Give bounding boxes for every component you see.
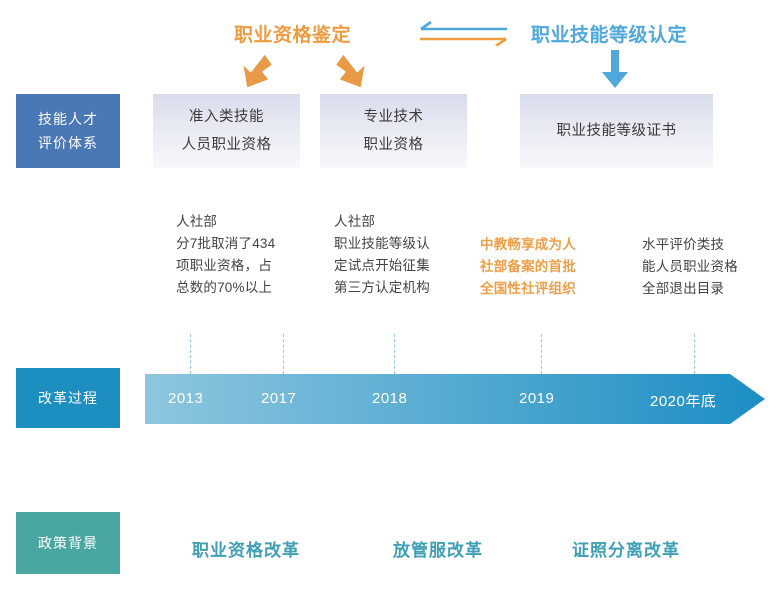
milestone-note-2020-line3: 全部退出目录 <box>642 278 738 300</box>
policy-item-license-separation-reform: 证照分离改革 <box>572 536 680 561</box>
arrow-right-icon <box>420 39 506 46</box>
milestone-note-2019-line3: 全国性社评组织 <box>480 278 576 300</box>
row-label-policy-background: 政策背景 <box>16 512 120 574</box>
milestone-note-2013-line3: 项职业资格，占 <box>176 255 275 277</box>
milestone-note-2019-line2: 社部备案的首批 <box>480 256 576 278</box>
connector-line-2017 <box>283 334 284 374</box>
year-label-2019: 2019 <box>519 390 554 407</box>
milestone-note-2018-line1: 人社部 <box>334 211 430 233</box>
arrow-down-icon <box>600 50 630 90</box>
row-label-reform-process-text: 改革过程 <box>38 386 98 410</box>
connector-line-2019 <box>541 334 542 374</box>
row-label-evaluation-system-line2: 评价体系 <box>38 131 98 155</box>
connector-line-2018 <box>394 334 395 374</box>
connector-line-2013 <box>190 334 191 374</box>
milestone-note-2020-line1: 水平评价类技 <box>642 234 738 256</box>
system-box-skill-level-certificate[interactable]: 职业技能等级证书 <box>520 94 713 168</box>
heading-vocational-qualification-appraisal: 职业资格鉴定 <box>234 20 351 47</box>
row-label-evaluation-system: 技能人才 评价体系 <box>16 94 120 168</box>
system-box-1-line1: 准入类技能 <box>189 103 264 131</box>
transition-arrows-group <box>414 18 514 46</box>
milestone-note-2018-line3: 定试点开始征集 <box>334 255 430 277</box>
system-box-2-line1: 专业技术 <box>364 103 424 131</box>
system-box-professional-technical-qualification[interactable]: 专业技术 职业资格 <box>320 94 467 168</box>
milestone-note-2018: 人社部 职业技能等级认 定试点开始征集 第三方认定机构 <box>334 211 430 299</box>
year-label-2018: 2018 <box>372 390 407 407</box>
system-box-2-line2: 职业资格 <box>364 131 424 159</box>
policy-item-qualification-reform: 职业资格改革 <box>192 536 300 561</box>
milestone-note-2020: 水平评价类技 能人员职业资格 全部退出目录 <box>642 234 738 300</box>
year-label-2013: 2013 <box>168 390 203 407</box>
connector-line-2020 <box>694 334 695 374</box>
milestone-note-2020-line2: 能人员职业资格 <box>642 256 738 278</box>
milestone-note-2013-line4: 总数的70%以上 <box>176 277 275 299</box>
system-box-3-line1: 职业技能等级证书 <box>557 117 677 145</box>
milestone-note-2018-line4: 第三方认定机构 <box>334 277 430 299</box>
milestone-note-2019-line1: 中教畅享成为人 <box>480 234 576 256</box>
arrow-down-right-icon <box>335 52 371 90</box>
row-label-reform-process: 改革过程 <box>16 368 120 428</box>
policy-item-deregulation-reform: 放管服改革 <box>393 536 483 561</box>
system-box-1-line2: 人员职业资格 <box>182 131 272 159</box>
arrow-left-icon <box>421 22 507 29</box>
milestone-note-2019: 中教畅享成为人 社部备案的首批 全国性社评组织 <box>480 234 576 300</box>
milestone-note-2013-line2: 分7批取消了434 <box>176 233 275 255</box>
row-label-policy-background-text: 政策背景 <box>38 531 98 555</box>
milestone-note-2018-line2: 职业技能等级认 <box>334 233 430 255</box>
row-label-evaluation-system-line1: 技能人才 <box>38 107 98 131</box>
arrow-down-left-icon <box>237 52 273 90</box>
infographic-canvas: 职业资格鉴定 职业技能等级认定 技能人才 评价体系 准入类技能 人员职业资 <box>0 0 774 592</box>
year-label-2017: 2017 <box>261 390 296 407</box>
milestone-note-2013-line1: 人社部 <box>176 211 275 233</box>
system-box-entry-level-qualification[interactable]: 准入类技能 人员职业资格 <box>153 94 300 168</box>
heading-skill-level-certification: 职业技能等级认定 <box>531 20 687 47</box>
year-label-2020: 2020年底 <box>650 390 716 411</box>
milestone-note-2013: 人社部 分7批取消了434 项职业资格，占 总数的70%以上 <box>176 211 275 299</box>
